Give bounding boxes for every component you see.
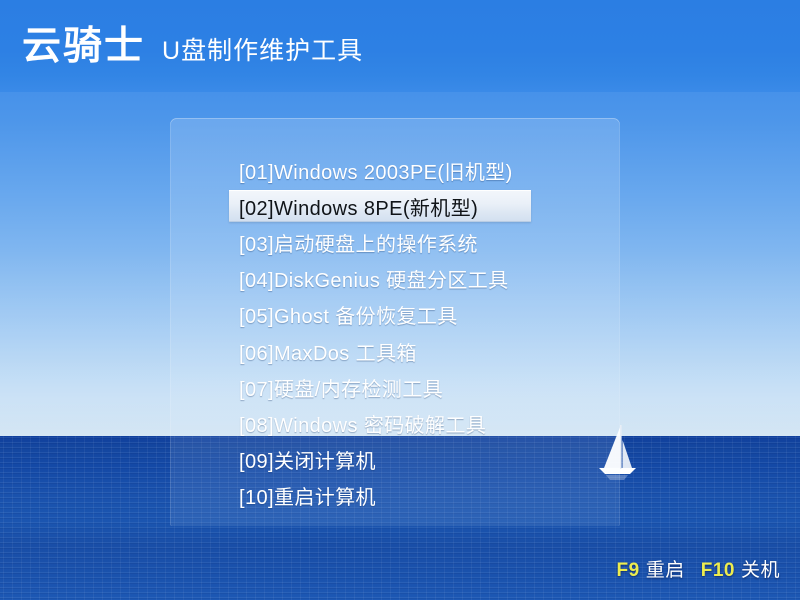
function-key-label-f10: 关机 xyxy=(741,560,780,581)
menu-item-05[interactable]: [05]Ghost 备份恢复工具 xyxy=(229,299,531,331)
menu-item-label: [04]DiskGenius 硬盘分区工具 xyxy=(239,264,509,293)
menu-item-label: [02]Windows 8PE(新机型) xyxy=(239,192,478,221)
menu-item-06[interactable]: [06]MaxDos 工具箱 xyxy=(229,335,531,367)
menu-item-07[interactable]: [07]硬盘/内存检测工具 xyxy=(229,371,531,403)
menu-item-04[interactable]: [04]DiskGenius 硬盘分区工具 xyxy=(229,263,531,295)
menu-item-label: [03]启动硬盘上的操作系统 xyxy=(239,228,478,257)
header-band: 云骑士 U盘制作维护工具 xyxy=(0,0,800,92)
menu-item-03[interactable]: [03]启动硬盘上的操作系统 xyxy=(229,226,531,258)
menu-item-01[interactable]: [01]Windows 2003PE(旧机型) xyxy=(229,154,531,186)
menu-panel: [01]Windows 2003PE(旧机型)[02]Windows 8PE(新… xyxy=(170,118,620,526)
brand: 云骑士 U盘制作维护工具 xyxy=(22,27,363,66)
boot-menu-screen: 云骑士 U盘制作维护工具 [01]Windows 2003PE(旧机型)[02]… xyxy=(0,0,800,600)
function-key-label-f9: 重启 xyxy=(646,560,685,581)
menu-item-label: [05]Ghost 备份恢复工具 xyxy=(239,300,458,329)
menu-item-label: [07]硬盘/内存检测工具 xyxy=(239,373,443,402)
menu-item-label: [06]MaxDos 工具箱 xyxy=(239,337,417,366)
menu-item-label: [10]重启计算机 xyxy=(239,481,376,510)
menu-item-label: [01]Windows 2003PE(旧机型) xyxy=(239,156,513,185)
brand-name: 云骑士 xyxy=(22,27,145,66)
menu-item-label: [08]Windows 密码破解工具 xyxy=(239,409,486,438)
function-key-f9[interactable]: F9 xyxy=(617,560,640,581)
menu-item-09[interactable]: [09]关闭计算机 xyxy=(229,444,531,476)
menu-item-label: [09]关闭计算机 xyxy=(239,445,376,474)
menu-item-10[interactable]: [10]重启计算机 xyxy=(229,480,531,512)
function-key-f10[interactable]: F10 xyxy=(701,560,735,581)
brand-subtitle: U盘制作维护工具 xyxy=(162,39,363,64)
function-key-hints: F9重启F10关机 xyxy=(617,555,780,582)
menu-item-02[interactable]: [02]Windows 8PE(新机型) xyxy=(229,190,531,222)
menu-item-08[interactable]: [08]Windows 密码破解工具 xyxy=(229,407,531,439)
